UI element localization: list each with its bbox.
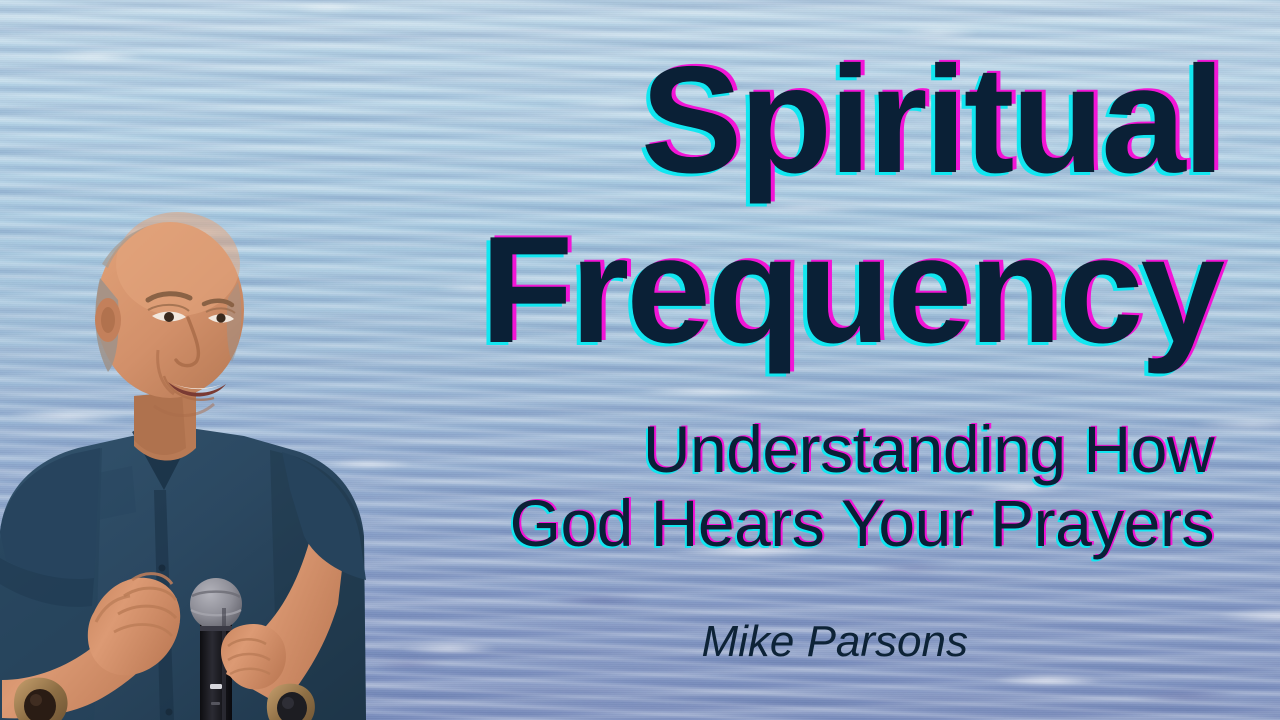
presentation-slide: Spiritual Spiritual Spiritual Frequency … xyxy=(0,0,1280,720)
subtitle-line-2-wrap: God Hears Your Prayers God Hears Your Pr… xyxy=(510,490,1214,556)
subtitle-line-2: God Hears Your Prayers God Hears Your Pr… xyxy=(510,490,1214,556)
speaker-name: Mike Parsons xyxy=(701,617,968,667)
subtitle-line-1-wrap: Understanding How Understanding How Unde… xyxy=(643,416,1214,482)
title-line-1-wrap: Spiritual Spiritual Spiritual xyxy=(641,44,1222,196)
title-line-2-text: Frequency xyxy=(480,214,1222,366)
title-line-2: Frequency Frequency Frequency xyxy=(480,214,1222,366)
title-line-2-wrap: Frequency Frequency Frequency xyxy=(480,214,1222,366)
subtitle-line-1: Understanding How Understanding How Unde… xyxy=(643,416,1214,482)
title-line-1-text: Spiritual xyxy=(641,44,1222,196)
subtitle-line-1-text: Understanding How xyxy=(643,416,1214,482)
subtitle-line-2-text: God Hears Your Prayers xyxy=(510,490,1214,556)
title-line-1: Spiritual Spiritual Spiritual xyxy=(641,44,1222,196)
text-layer: Spiritual Spiritual Spiritual Frequency … xyxy=(0,0,1280,720)
